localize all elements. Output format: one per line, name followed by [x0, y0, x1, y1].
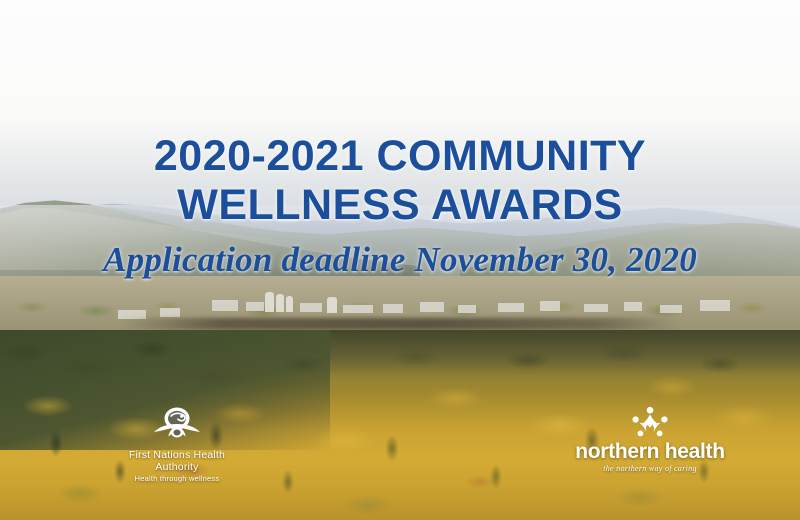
- northern-health-name: northern health: [560, 440, 740, 463]
- deadline-subtitle: Application deadline November 30, 2020: [0, 240, 800, 280]
- northern-health-figure-icon: [628, 405, 672, 437]
- town-building: [246, 302, 264, 311]
- fnha-name: First Nations Health Authority: [108, 449, 246, 473]
- town-building: [584, 304, 608, 312]
- town-building: [343, 305, 373, 313]
- town-building: [458, 305, 476, 313]
- town-building: [160, 308, 180, 317]
- industrial-silo: [327, 297, 337, 313]
- industrial-silo: [265, 292, 274, 312]
- page-title: 2020-2021 COMMUNITY WELLNESS AWARDS: [0, 132, 800, 230]
- town-building: [624, 302, 642, 311]
- town-building: [498, 303, 524, 312]
- fnha-tagline: Health through wellness: [108, 474, 246, 483]
- fnha-circle-emblem-icon: [151, 405, 203, 445]
- town-building: [300, 303, 322, 312]
- town-building: [700, 300, 730, 311]
- town-building: [420, 302, 444, 312]
- cleared-ground-strip: [120, 318, 680, 330]
- town-building: [540, 301, 560, 311]
- town-building: [660, 305, 682, 313]
- industrial-silo: [276, 294, 284, 312]
- northern-health-logo: northern health the northern way of cari…: [560, 405, 740, 473]
- community-wellness-awards-poster: 2020-2021 COMMUNITY WELLNESS AWARDS Appl…: [0, 0, 800, 520]
- northern-health-tagline: the northern way of caring: [560, 464, 740, 473]
- town-building: [383, 304, 403, 313]
- industrial-silo: [286, 296, 293, 312]
- town-building: [212, 300, 238, 311]
- fnha-logo: First Nations Health Authority Health th…: [108, 405, 246, 483]
